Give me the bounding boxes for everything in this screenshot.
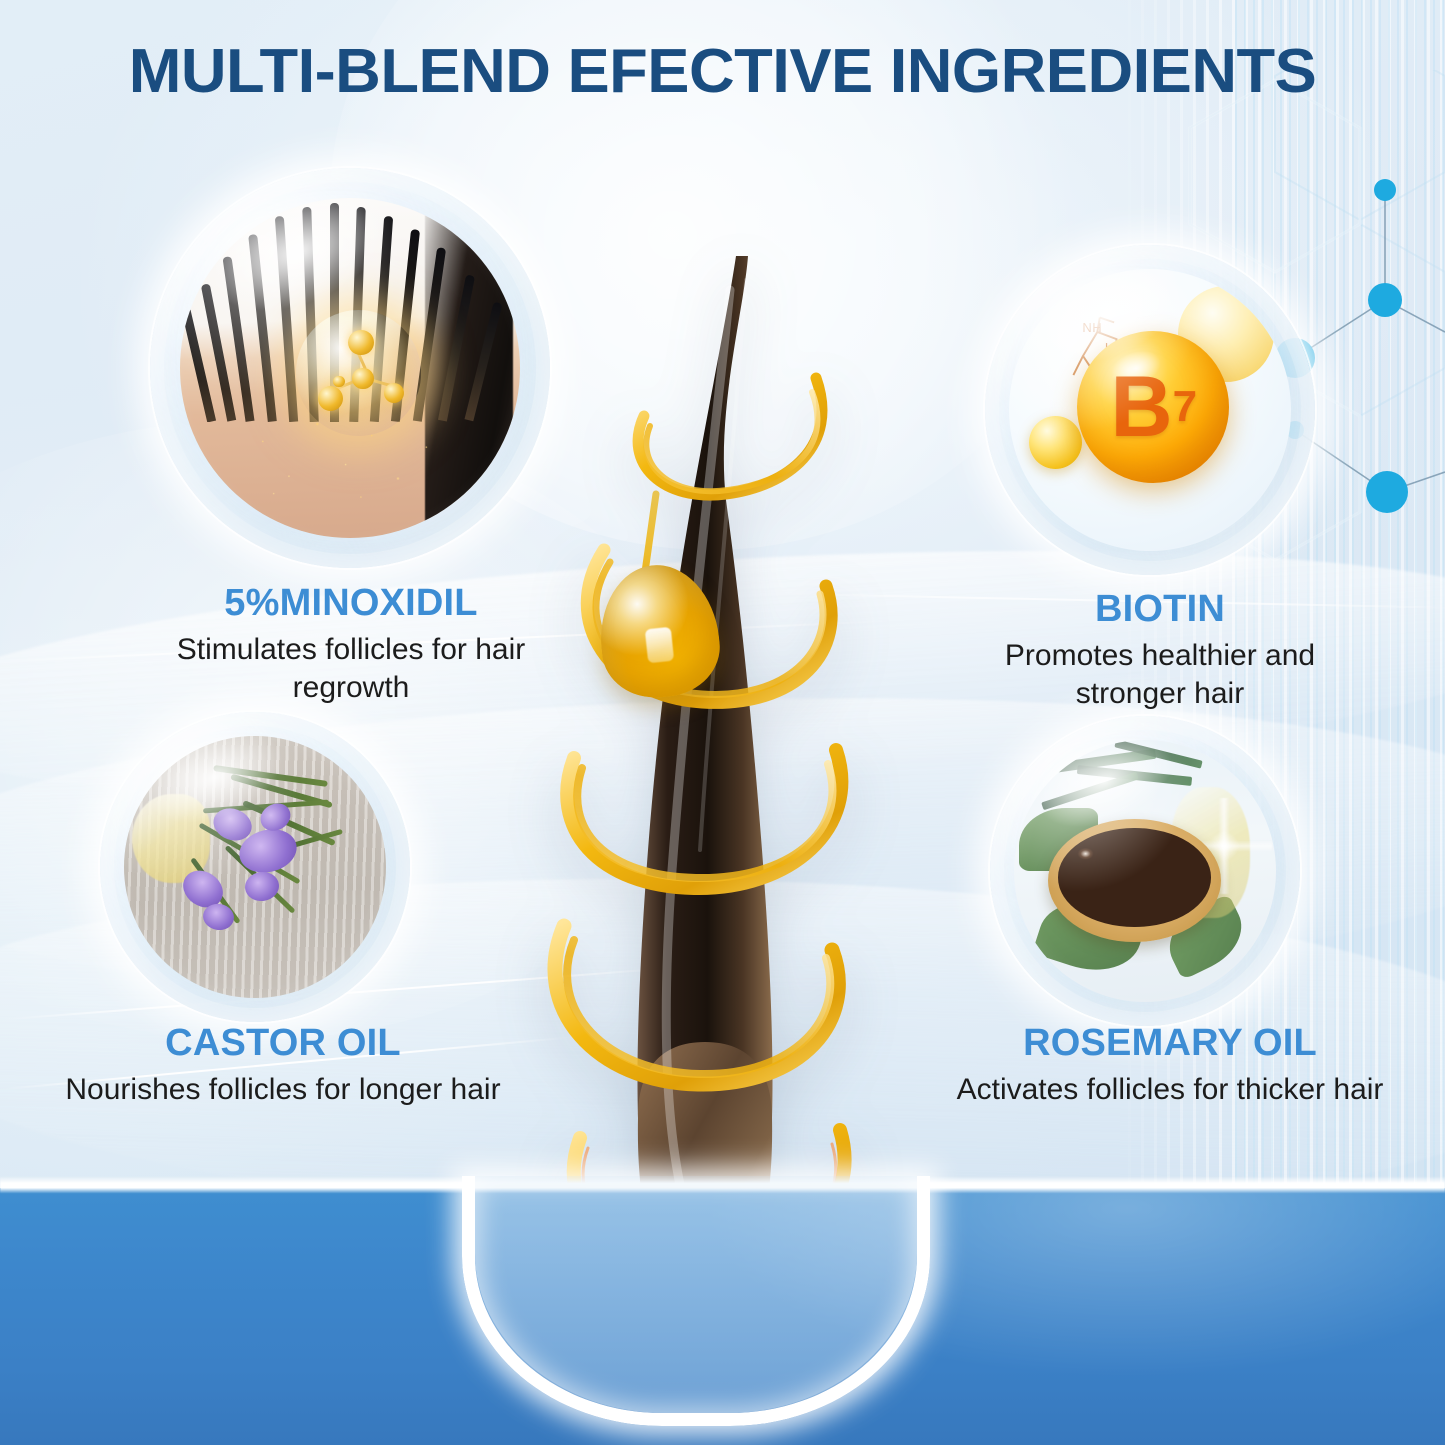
molecule-droplet xyxy=(296,310,422,436)
woven-basket xyxy=(1048,819,1221,942)
ingredient-description: Promotes healthier and stronger hair xyxy=(950,637,1370,713)
molecule-dot xyxy=(1366,471,1408,513)
page-title: MULTI-BLEND EFECTIVE INGREDIENTS xyxy=(0,36,1445,107)
ingredient-name: ROSEMARY OIL xyxy=(950,1022,1390,1065)
ingredient-description: Activates follicles for thicker hair xyxy=(950,1071,1390,1109)
ingredient-description: Stimulates follicles for hair regrowth xyxy=(128,631,574,707)
ingredient-bubble-biotin[interactable]: NH H COOH B7 xyxy=(985,245,1315,575)
ingredient-bubble-minoxidil[interactable] xyxy=(150,168,550,568)
label-biotin: BIOTIN Promotes healthier and stronger h… xyxy=(950,588,1370,713)
ingredient-name: CASTOR OIL xyxy=(60,1022,506,1065)
label-castor-oil: CASTOR OIL Nourishes follicles for longe… xyxy=(60,1022,506,1109)
b7-superscript: 7 xyxy=(1173,382,1195,432)
label-minoxidil: 5%MINOXIDIL Stimulates follicles for hai… xyxy=(128,582,574,707)
ingredient-name: 5%MINOXIDIL xyxy=(128,582,574,625)
ingredient-bubble-rosemary-oil[interactable] xyxy=(990,716,1300,1026)
ingredient-name: BIOTIN xyxy=(950,588,1370,631)
follicle-cavity-outline xyxy=(462,1176,930,1426)
castor-beans xyxy=(1058,828,1210,927)
infographic-canvas: MULTI-BLEND EFECTIVE INGREDIENTS xyxy=(0,0,1445,1445)
molecule-dot xyxy=(1374,179,1396,201)
ingredient-description: Nourishes follicles for longer hair xyxy=(60,1071,506,1109)
molecule-dot xyxy=(1368,283,1402,317)
label-rosemary-oil: ROSEMARY OIL Activates follicles for thi… xyxy=(950,1022,1390,1109)
follicle-cavity xyxy=(462,1176,930,1445)
b7-letter: B xyxy=(1111,358,1171,457)
ingredient-bubble-castor-oil[interactable] xyxy=(100,712,410,1022)
small-gold-droplet xyxy=(1029,416,1083,470)
